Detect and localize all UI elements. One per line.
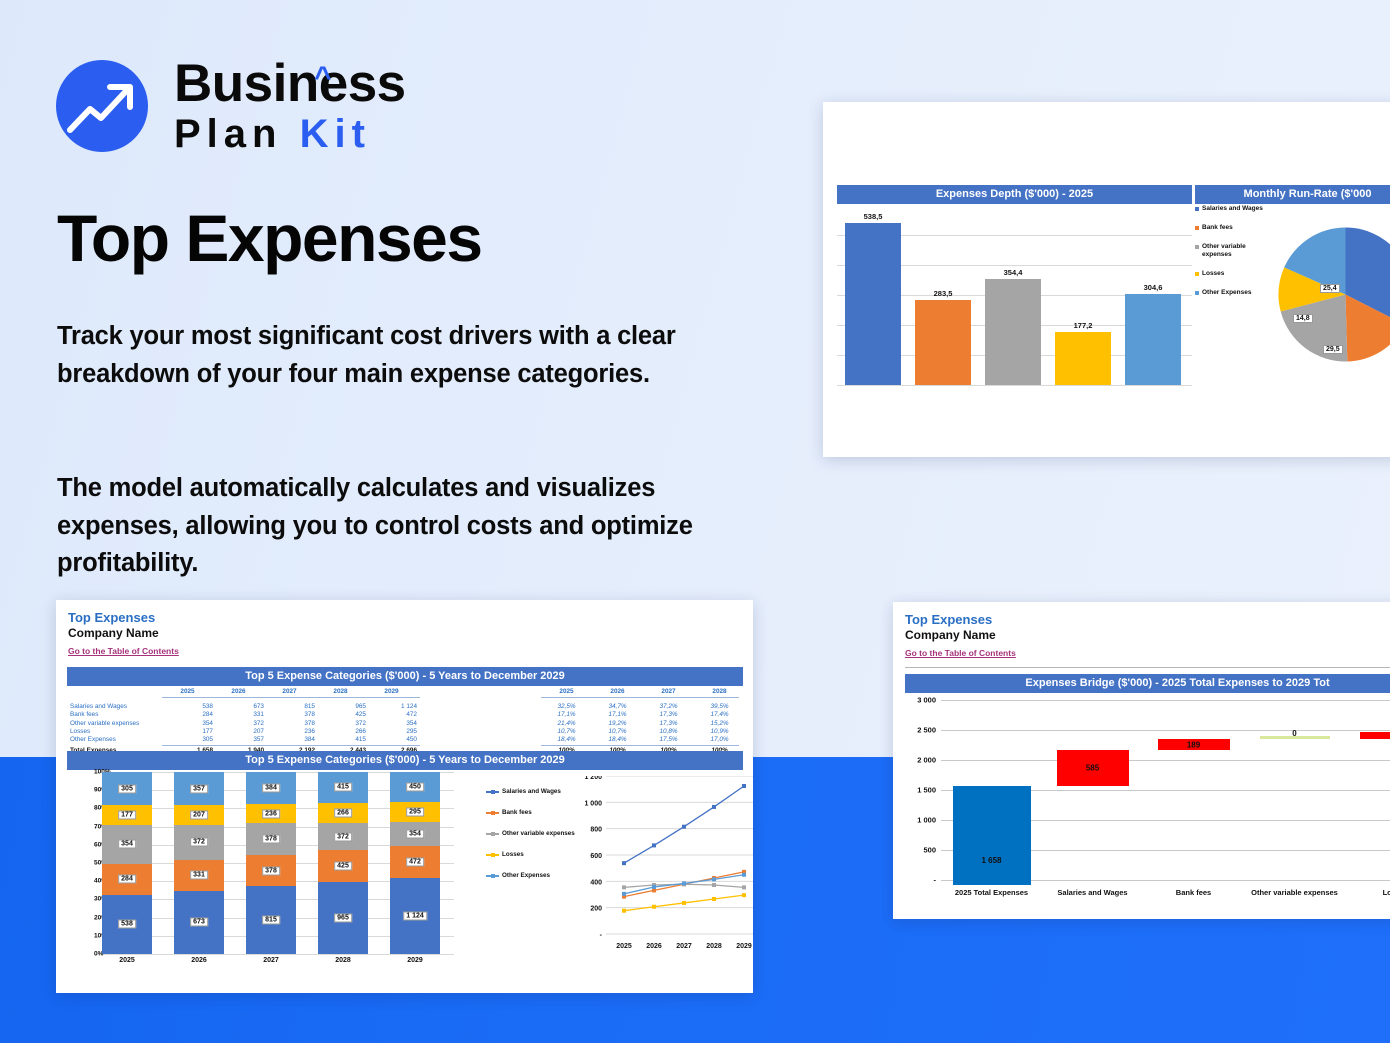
table-row-label [449, 703, 541, 711]
table-row: 20252026202720282029 [70, 688, 420, 696]
table-rule [541, 697, 739, 698]
sheet-header-bridge: Top Expenses Company Name Go to the Tabl… [893, 602, 1390, 663]
line-marker [742, 784, 746, 788]
table-column-header: 2027 [643, 688, 694, 696]
table-row: Other variable expenses354372378372354 [70, 720, 420, 728]
panel-expenses-bridge[interactable]: Top Expenses Company Name Go to the Tabl… [893, 602, 1390, 919]
table-row-label: Losses [70, 728, 162, 736]
hero-paragraph-1: Track your most significant cost drivers… [57, 318, 737, 393]
bar: 354,4 [985, 279, 1041, 385]
x-axis-tick-label: 2026 [174, 957, 224, 964]
waterfall-value-label: 585 [1086, 763, 1099, 772]
legend-item: Bank fees [1195, 224, 1265, 232]
table-cell: 673 [213, 703, 264, 711]
x-axis-tick-label: 2026 [646, 943, 662, 950]
stacked-bar-segment: 673 [174, 891, 224, 954]
sheet-company-name-bridge: Company Name [905, 628, 1390, 643]
table-cell: 19,2% [592, 720, 643, 728]
line-marker [622, 861, 626, 865]
legend-swatch [1195, 207, 1199, 211]
pie-chart-monthly-run-rate [1278, 227, 1390, 362]
table-cell: 354 [162, 720, 213, 728]
line-marker [652, 885, 656, 889]
table-column-header: 2026 [592, 688, 643, 696]
chart-header-monthly-run-rate: Monthly Run-Rate ($'000 [1195, 185, 1390, 204]
table-cell: 295 [366, 728, 417, 736]
stacked-bar-segment: 236 [246, 804, 296, 824]
stacked-bar-segment: 384 [246, 772, 296, 804]
page-title: Top Expenses [57, 200, 482, 276]
y-axis-tick-label: 1 000 [917, 816, 936, 825]
table-rule [162, 745, 420, 746]
waterfall-bar: 0 [1260, 736, 1330, 739]
table-of-contents-link[interactable]: Go to the Table of Contents [68, 646, 179, 656]
x-axis-tick-label: Other variable expenses [1244, 888, 1345, 897]
table-row: Other Expenses305357384415450 [70, 736, 420, 744]
line-marker [652, 905, 656, 909]
caret-accent-icon: ^ [314, 50, 331, 106]
table-column-header: 2026 [213, 688, 264, 696]
line-marker [682, 825, 686, 829]
growth-arrow-icon [56, 60, 148, 152]
table-cell: 15,2% [694, 720, 745, 728]
segment-value-label: 378 [262, 835, 280, 844]
stacked-bar-segment: 177 [102, 805, 152, 824]
line-marker [742, 873, 746, 877]
segment-value-label: 372 [334, 832, 352, 841]
line-chart-top5: -2004006008001 0001 20020252026202720282… [576, 776, 734, 966]
table-rule [541, 745, 739, 746]
table-cell: 331 [213, 711, 264, 719]
stacked-bar-segment: 472 [390, 846, 440, 878]
table-cell: 472 [366, 711, 417, 719]
segment-value-label: 815 [262, 916, 280, 925]
legend-item: Losses [486, 851, 575, 859]
table-percentages: 2025202620272028202932,5%34,7%37,2%39,5%… [449, 688, 739, 755]
table-cell: 236 [264, 728, 315, 736]
table-cell: 100% [745, 747, 753, 755]
table-row: 17,1%17,1%17,3%17,4%17,5% [449, 711, 739, 719]
legend-expenses-depth: Salaries and WagesBank feesOther variabl… [1195, 205, 1265, 308]
table-row-label [449, 711, 541, 719]
segment-value-label: 384 [262, 783, 280, 792]
y-axis-tick-label: 600 [590, 853, 602, 860]
waterfall-bar: 189 [1158, 739, 1230, 750]
line-marker [712, 897, 716, 901]
table-cell: 17,5% [643, 736, 694, 744]
stacked-bar-segment: 372 [318, 823, 368, 851]
table-cell: 18,4% [541, 736, 592, 744]
stacked-bar-segment: 295 [390, 802, 440, 822]
waterfall-chart-expenses-bridge: -5001 0001 5002 0002 5003 0001 6582025 T… [941, 700, 1390, 885]
stacked-bar-segment: 538 [102, 895, 152, 954]
table-cell: 965 [315, 703, 366, 711]
table-column-header: 2028 [315, 688, 366, 696]
waterfall-bar: 1 658 [953, 786, 1031, 885]
bar-chart-expenses-depth: 538,5283,5354,4177,2304,6 [837, 205, 1192, 385]
y-axis-tick-label: 200 [590, 906, 602, 913]
segment-value-label: 1 124 [403, 912, 427, 921]
table-cell [70, 688, 162, 696]
waterfall-bar: 585 [1057, 750, 1129, 785]
brand-name-business: Business [174, 54, 406, 113]
table-cell: 384 [264, 736, 315, 744]
line-marker [682, 901, 686, 905]
table-cell: 415 [315, 736, 366, 744]
grid-line [941, 730, 1390, 731]
legend-item: Other variable expenses [486, 830, 575, 838]
table-row-label: Other variable expenses [70, 720, 162, 728]
stacked-bar-segment: 305 [102, 772, 152, 805]
table-column-header: 2027 [264, 688, 315, 696]
segment-value-label: 331 [190, 871, 208, 880]
segment-value-label: 354 [118, 840, 136, 849]
table-column-header: 2029 [745, 688, 753, 696]
table-cell: 266 [315, 728, 366, 736]
segment-value-label: 673 [190, 918, 208, 927]
line-marker [742, 885, 746, 889]
line-marker [682, 881, 686, 885]
legend-item: Other variable expenses [1195, 243, 1265, 259]
stacked-bar-segment: 1 124 [390, 878, 440, 954]
sheet-title: Top Expenses [68, 610, 741, 626]
table-of-contents-link-bridge[interactable]: Go to the Table of Contents [905, 648, 1016, 658]
table-cell: 10,8% [643, 728, 694, 736]
table-cell: 538 [162, 703, 213, 711]
legend-label: Other variable expenses [1202, 243, 1265, 259]
table-cell: 13,1% [745, 720, 753, 728]
line-marker [742, 893, 746, 897]
segment-value-label: 354 [406, 830, 424, 839]
x-axis-tick-label: 2029 [390, 957, 440, 964]
segment-value-label: 450 [406, 783, 424, 792]
legend-label: Bank fees [1202, 224, 1233, 232]
table-cell: 34,7% [592, 703, 643, 711]
sheet-header: Top Expenses Company Name Go to the Tabl… [56, 600, 753, 661]
table-cell: 17,3% [643, 711, 694, 719]
segment-value-label: 965 [334, 914, 352, 923]
y-axis-tick-label: 1 500 [917, 786, 936, 795]
waterfall-value-label: 0 [1292, 729, 1296, 738]
stacked-bar-column: 3842363783788152027 [246, 772, 296, 954]
segment-value-label: 425 [334, 862, 352, 871]
legend-label: Losses [1202, 270, 1224, 278]
stacked-bar-segment: 965 [318, 882, 368, 954]
legend-item: Other Expenses [486, 872, 575, 880]
legend-label: Bank fees [502, 809, 532, 817]
brand-name-line2: Plan Kit [174, 112, 406, 156]
table-cell: 207 [213, 728, 264, 736]
segment-value-label: 207 [190, 811, 208, 820]
table-cell: 17,3% [643, 720, 694, 728]
brand-name-kit: Kit [300, 112, 371, 156]
stacked-bar-column: 4502953544721 1242029 [390, 772, 440, 954]
line-marker [712, 883, 716, 887]
stacked-bar-segment: 207 [174, 805, 224, 824]
segment-value-label: 236 [262, 809, 280, 818]
line-marker [622, 909, 626, 913]
chart-header-top5: Top 5 Expense Categories ($'000) - 5 Yea… [67, 751, 743, 770]
line-marker [652, 888, 656, 892]
bar-value-label: 354,4 [985, 268, 1041, 277]
table-cell: 37,2% [643, 703, 694, 711]
segment-value-label: 295 [406, 808, 424, 817]
table-cell: 17,0% [694, 736, 745, 744]
legend-label: Salaries and Wages [502, 788, 561, 796]
x-axis-tick-label: 2027 [246, 957, 296, 964]
y-axis-tick-label: 400 [590, 879, 602, 886]
chart-header-expenses-bridge: Expenses Bridge ($'000) - 2025 Total Exp… [905, 674, 1390, 693]
table-cell: 41,7% [745, 703, 753, 711]
panel-top5-expense-categories[interactable]: Top Expenses Company Name Go to the Tabl… [56, 600, 753, 993]
table-cell: 372 [213, 720, 264, 728]
stacked-bar-segment: 415 [318, 772, 368, 803]
x-axis-tick-label: 2028 [318, 957, 368, 964]
line-marker [712, 877, 716, 881]
bar-value-label: 304,6 [1125, 283, 1181, 292]
legend-label: Losses [502, 851, 524, 859]
table-cell: 11,0% [745, 728, 753, 736]
segment-value-label: 266 [334, 808, 352, 817]
table-cell: 378 [264, 720, 315, 728]
stacked-bar-segment: 354 [102, 825, 152, 864]
x-axis-tick-label: 2025 [616, 943, 632, 950]
table-cell: 305 [162, 736, 213, 744]
pie-value-label: 25,4 [1320, 284, 1340, 293]
table-cell: 17,5% [745, 711, 753, 719]
table-cell: 16,7% [745, 736, 753, 744]
bar: 177,2 [1055, 332, 1111, 385]
table-row: 32,5%34,7%37,2%39,5%41,7% [449, 703, 739, 711]
table-row: 10,7%10,7%10,8%10,9%11,0% [449, 728, 739, 736]
legend-swatch [486, 854, 499, 856]
grid-line [941, 760, 1390, 761]
segment-value-label: 357 [190, 784, 208, 793]
y-axis-tick-label: 2 000 [917, 756, 936, 765]
legend-label: Other Expenses [502, 872, 550, 880]
table-cell: 10,7% [592, 728, 643, 736]
table-header-top5: Top 5 Expense Categories ($'000) - 5 Yea… [67, 667, 743, 686]
line-chart-svg: -2004006008001 0001 20020252026202720282… [576, 776, 753, 958]
legend-label: Other Expenses [1202, 289, 1252, 297]
stacked-bar-segment: 815 [246, 886, 296, 954]
line-marker [652, 843, 656, 847]
stacked-bar-segment: 357 [174, 772, 224, 805]
segment-value-label: 472 [406, 858, 424, 867]
grid-line [941, 700, 1390, 701]
y-axis-tick-label: 500 [923, 846, 936, 855]
stacked-bar-chart-top5: 0%10%20%30%40%50%60%70%80%90%100%3051773… [68, 772, 468, 972]
legend-label: Other variable expenses [502, 830, 575, 838]
x-axis-tick-label: Bank fees [1143, 888, 1244, 897]
table-cell [449, 688, 541, 696]
legend-swatch [1195, 245, 1199, 249]
line-marker [622, 892, 626, 896]
stacked-bar-segment: 372 [174, 825, 224, 860]
segment-value-label: 415 [334, 783, 352, 792]
line-marker [622, 885, 626, 889]
table-row-label: Salaries and Wages [70, 703, 162, 711]
y-axis-tick-label: 3 000 [917, 696, 936, 705]
brand-name-line1: Business ^ [174, 56, 406, 112]
table-cell: 372 [315, 720, 366, 728]
table-row-label [449, 720, 541, 728]
y-axis-tick-label: - [600, 932, 603, 939]
header-divider [1192, 185, 1193, 204]
table-cell: 450 [366, 736, 417, 744]
sheet-company-name: Company Name [68, 626, 741, 641]
line-marker [712, 805, 716, 809]
stacked-bar-column: 4152663724259652028 [318, 772, 368, 954]
table-cell: 10,7% [541, 728, 592, 736]
bar: 304,6 [1125, 294, 1181, 385]
x-axis-tick-label: Salaries and Wages [1042, 888, 1143, 897]
x-axis-tick-label: 2027 [676, 943, 692, 950]
table-cell: 354 [366, 720, 417, 728]
sheet-title-bridge: Top Expenses [905, 612, 1390, 628]
legend-item: Bank fees [486, 809, 575, 817]
table-row: 21,4%19,2%17,3%15,2%13,1% [449, 720, 739, 728]
table-cell: 32,5% [541, 703, 592, 711]
table-row-label [449, 728, 541, 736]
legend-swatch [486, 875, 499, 877]
chart-header-expenses-depth: Expenses Depth ($'000) - 2025 [837, 185, 1192, 204]
legend-swatch [486, 812, 499, 814]
table-cell: 284 [162, 711, 213, 719]
stacked-bar-column: 3572073723316732026 [174, 772, 224, 954]
x-axis-tick-label: 2025 [102, 957, 152, 964]
segment-value-label: 177 [118, 811, 136, 820]
legend-swatch [1195, 291, 1199, 295]
grid-line [837, 385, 1192, 386]
legend-swatch [486, 833, 499, 835]
legend-swatch [1195, 272, 1199, 276]
panel-expenses-depth[interactable]: Expenses Depth ($'000) - 2025 Monthly Ru… [823, 102, 1390, 457]
segment-value-label: 284 [118, 875, 136, 884]
y-axis-tick-label: - [934, 876, 937, 885]
grid-line [94, 954, 454, 955]
x-axis-tick-label: 2029 [736, 943, 752, 950]
x-axis-tick-label: 2028 [706, 943, 722, 950]
table-column-header: 2025 [162, 688, 213, 696]
table-row-label [449, 736, 541, 744]
y-axis-tick-label: 2 500 [917, 726, 936, 735]
table-row-label: Bank fees [70, 711, 162, 719]
bar-value-label: 538,5 [845, 212, 901, 221]
segment-value-label: 372 [190, 838, 208, 847]
table-row-label: Other Expenses [70, 736, 162, 744]
stacked-bar-segment: 284 [102, 864, 152, 895]
legend-swatch [486, 791, 499, 793]
divider [905, 667, 1390, 668]
bar: 538,5 [845, 223, 901, 385]
legend-item: Other Expenses [1195, 289, 1265, 297]
line-series [624, 786, 744, 863]
waterfall-value-label: 1 658 [981, 856, 1001, 865]
table-cell: 17,1% [541, 711, 592, 719]
table-row: Losses177207236266295 [70, 728, 420, 736]
table-cell: 425 [315, 711, 366, 719]
table-cell: 17,1% [592, 711, 643, 719]
legend-item: Salaries and Wages [1195, 205, 1265, 213]
stacked-bar-segment: 266 [318, 803, 368, 823]
hero-paragraph-2: The model automatically calculates and v… [57, 470, 737, 583]
stacked-bar-segment: 425 [318, 850, 368, 882]
table-cell: 177 [162, 728, 213, 736]
stacked-bar-segment: 331 [174, 860, 224, 891]
table-cell: 1 124 [366, 703, 417, 711]
table-values: 20252026202720282029Salaries and Wages53… [70, 688, 420, 755]
stacked-bar-segment: 354 [390, 822, 440, 846]
table-cell: 10,9% [694, 728, 745, 736]
legend-swatch [1195, 226, 1199, 230]
bar: 283,5 [915, 300, 971, 385]
pie-value-label: 14,8 [1293, 314, 1313, 323]
stacked-bar-column: 3051773542845382025 [102, 772, 152, 954]
table-cell: 21,4% [541, 720, 592, 728]
legend-item: Losses [1195, 270, 1265, 278]
pie-value-label: 29,5 [1323, 345, 1343, 354]
legend-item: Salaries and Wages [486, 788, 575, 796]
table-column-header: 2028 [694, 688, 745, 696]
waterfall-value-label: 189 [1187, 740, 1200, 749]
x-axis-tick-label: Losses [1345, 888, 1390, 897]
table-rule [162, 697, 420, 698]
y-axis-tick-label: 1 000 [584, 800, 602, 807]
stacked-bar-segment: 378 [246, 855, 296, 886]
x-axis-tick-label: 2025 Total Expenses [941, 888, 1042, 897]
table-column-header: 2029 [366, 688, 417, 696]
segment-value-label: 538 [118, 920, 136, 929]
table-column-header: 2025 [541, 688, 592, 696]
table-row: 20252026202720282029 [449, 688, 739, 696]
table-cell: 39,5% [694, 703, 745, 711]
y-axis-tick-label: 800 [590, 827, 602, 834]
legend-stacked-bar: Salaries and WagesBank feesOther variabl… [486, 788, 575, 893]
segment-value-label: 378 [262, 866, 280, 875]
bar-value-label: 177,2 [1055, 321, 1111, 330]
table-row: 18,4%18,4%17,5%17,0%16,7% [449, 736, 739, 744]
legend-label: Salaries and Wages [1202, 205, 1263, 213]
table-cell: 378 [264, 711, 315, 719]
table-row: Salaries and Wages5386738159651 124 [70, 703, 420, 711]
table-cell: 357 [213, 736, 264, 744]
stacked-bar-segment: 450 [390, 772, 440, 802]
table-cell: 815 [264, 703, 315, 711]
table-cell: 18,4% [592, 736, 643, 744]
brand-name-plan: Plan [174, 112, 282, 156]
y-axis-tick-label: 1 200 [584, 776, 602, 781]
segment-value-label: 305 [118, 784, 136, 793]
stacked-bar-segment: 378 [246, 823, 296, 854]
brand-logo: Business ^ Plan Kit [56, 56, 456, 156]
bar-value-label: 283,5 [915, 289, 971, 298]
table-cell: 17,4% [694, 711, 745, 719]
waterfall-bar: 1 [1360, 732, 1390, 739]
table-row: Bank fees284331378425472 [70, 711, 420, 719]
